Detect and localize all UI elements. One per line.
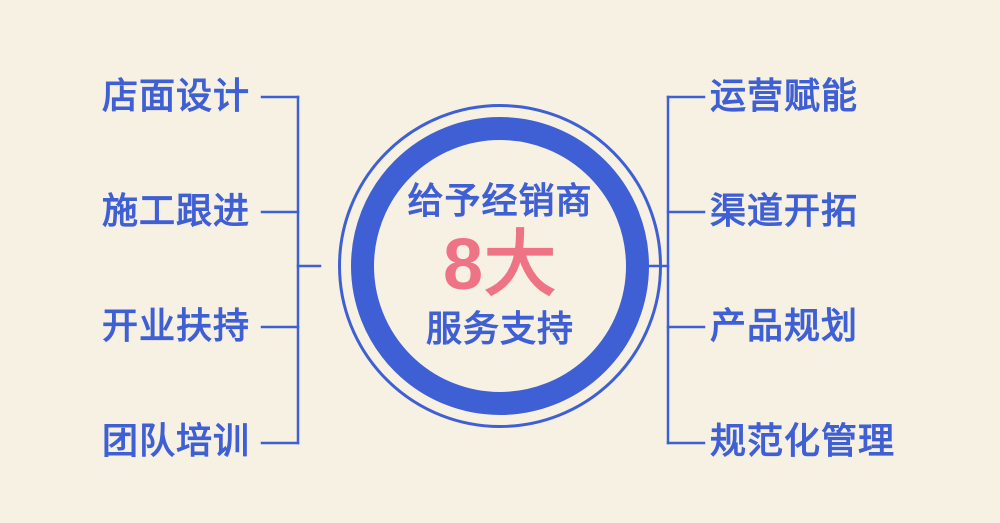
- branch-label-operations-empowerment[interactable]: 运营赋能: [710, 78, 1000, 114]
- branch-label-opening-support[interactable]: 开业扶持: [0, 308, 250, 344]
- branch-label-product-planning[interactable]: 产品规划: [710, 308, 1000, 344]
- center-heading: 给予经销商: [407, 183, 592, 219]
- center-number: 8大: [443, 229, 557, 301]
- center-content: 给予经销商 8大 服务支持: [351, 117, 649, 415]
- branch-label-channel-expansion[interactable]: 渠道开拓: [710, 193, 1000, 229]
- branch-label-standardized-management[interactable]: 规范化管理: [710, 423, 1000, 459]
- center-subheading: 服务支持: [426, 311, 574, 347]
- branch-label-construction-followup[interactable]: 施工跟进: [0, 193, 250, 229]
- branch-label-team-training[interactable]: 团队培训: [0, 423, 250, 459]
- branch-label-store-design[interactable]: 店面设计: [0, 78, 250, 114]
- service-support-infographic: 给予经销商 8大 服务支持 店面设计 施工跟进 开业扶持 团队培训 运营赋能 渠…: [0, 0, 1000, 523]
